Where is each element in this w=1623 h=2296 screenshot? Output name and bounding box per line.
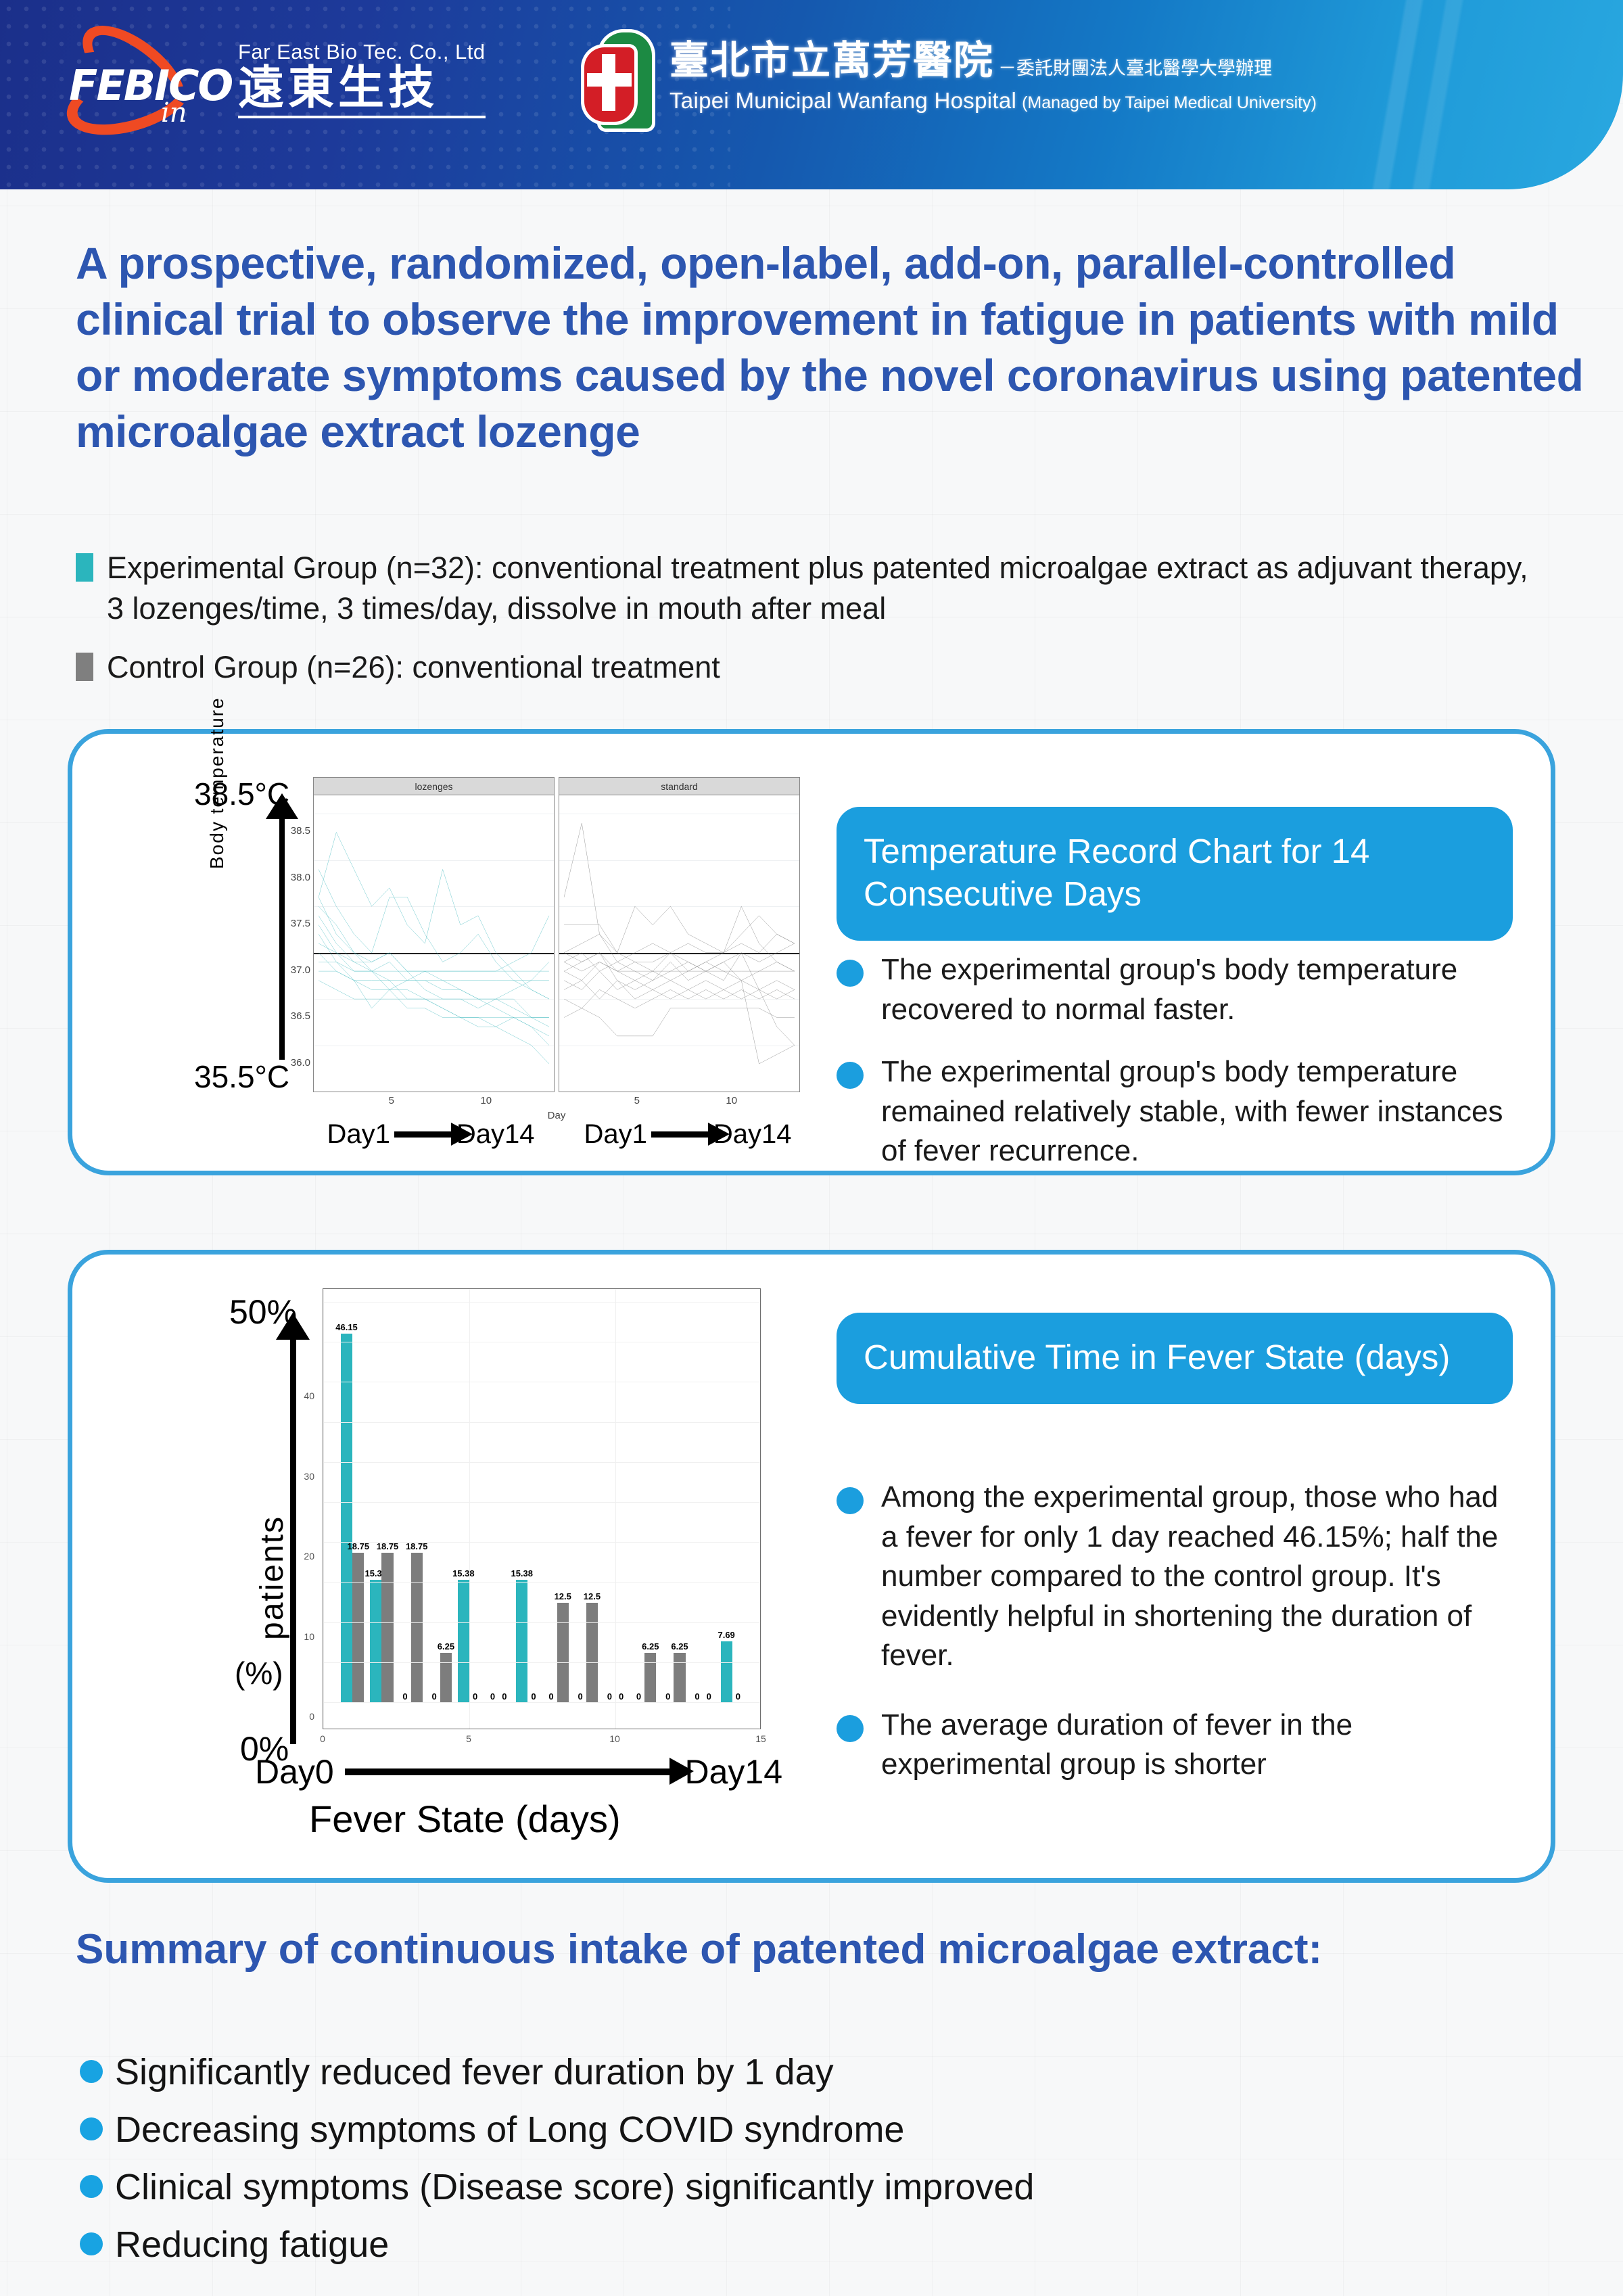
facet-label-standard: standard — [559, 778, 799, 795]
fever-bar-value-label: 0 — [736, 1691, 740, 1703]
fever-bar-value-label: 0 — [636, 1691, 641, 1703]
hospital-cross-icon — [582, 28, 663, 130]
fever-bar-value-label: 7.69 — [718, 1630, 734, 1641]
summary-item: Significantly reduced fever duration by … — [80, 2049, 1588, 2096]
temperature-facet-plot: lozenges standard — [313, 777, 800, 1092]
gridline — [761, 1289, 762, 1729]
gridline — [323, 1702, 760, 1703]
day-range-lozenges: Day1 Day14 — [302, 1119, 559, 1150]
right-arrow-icon — [345, 1768, 672, 1775]
day-start-label-lozenges: Day1 — [327, 1119, 390, 1150]
temperature-panel: 38.5°C 35.5°C Body temperature 36.036.53… — [68, 729, 1555, 1175]
gridline — [323, 1382, 760, 1382]
fever-x-axis-title: Fever State (days) — [309, 1797, 621, 1841]
poster-header: FEBICO in Far East Bio Tec. Co., Ltd 遠東生… — [0, 0, 1623, 189]
temperature-bullet-list: The experimental group's body temperatur… — [837, 950, 1526, 1194]
fever-bar-value-label: 12.5 — [584, 1591, 601, 1603]
fever-x-tick: 15 — [755, 1733, 766, 1744]
fever-bar-value-label: 6.25 — [642, 1641, 659, 1653]
bullet-dot-icon — [837, 1715, 864, 1742]
experimental-group-swatch-icon — [76, 553, 93, 582]
temp-y-tick: 36.5 — [291, 1010, 310, 1022]
gridline — [323, 1289, 324, 1729]
fever-bar-value-label: 6.25 — [671, 1641, 688, 1653]
fever-bar: 15.38 — [458, 1580, 469, 1703]
facet-standard: standard — [559, 777, 800, 1092]
fever-y-tick-labels: 010203040 — [286, 1288, 319, 1729]
temp-y-axis-title: Body temperature — [206, 697, 228, 869]
fever-bar: 6.25 — [440, 1653, 452, 1703]
fever-bar: 18.75 — [352, 1553, 364, 1703]
fever-bar: 6.25 — [644, 1653, 656, 1703]
right-arrow-icon — [651, 1131, 709, 1138]
experimental-group-label: Experimental Group (n=32): conventional … — [107, 548, 1540, 630]
gridline — [323, 1422, 760, 1423]
right-arrow-icon — [394, 1131, 452, 1138]
temp-x-tick: 10 — [480, 1095, 492, 1106]
facet-plot-area-standard — [559, 795, 799, 1092]
bullet-dot-icon — [837, 960, 864, 987]
bullet-text: The experimental group's body temperatur… — [881, 950, 1526, 1029]
bullet-text: The experimental group's body temperatur… — [881, 1052, 1526, 1171]
study-groups-legend: Experimental Group (n=32): conventional … — [76, 548, 1563, 705]
fever-x-tick: 5 — [466, 1733, 471, 1744]
fever-y-tick: 10 — [304, 1631, 314, 1642]
bullet-item: Among the experimental group, those who … — [837, 1478, 1520, 1676]
fever-bar-value-label: 15.38 — [511, 1568, 533, 1580]
fever-bar: 18.75 — [381, 1553, 393, 1703]
fever-bar-value-label: 18.75 — [377, 1541, 399, 1553]
gridline — [323, 1342, 760, 1342]
fever-bar-value-label: 0 — [490, 1691, 495, 1703]
fever-bars-container: 46.1518.7515.3818.75018.7506.2515.380001… — [323, 1304, 760, 1703]
fever-bar-value-label: 18.75 — [348, 1541, 370, 1553]
fever-bar: 15.38 — [516, 1580, 527, 1703]
fever-y-tick: 0 — [309, 1711, 314, 1722]
fever-bar-value-label: 46.15 — [335, 1322, 358, 1334]
temperature-lines — [559, 795, 799, 1092]
facet-plot-area-lozenges — [314, 795, 554, 1092]
summary-heading: Summary of continuous intake of patented… — [76, 1924, 1584, 1975]
temp-y-tick: 38.0 — [291, 872, 310, 883]
gridline — [323, 1582, 760, 1583]
fever-bar-value-label: 18.75 — [406, 1541, 428, 1553]
bullet-dot-icon — [80, 2117, 103, 2140]
fever-bar-value-label: 0 — [619, 1691, 624, 1703]
fever-day-start-label: Day0 — [255, 1752, 334, 1791]
summary-item: Reducing fatigue — [80, 2222, 1588, 2268]
bullet-dot-icon — [80, 2175, 103, 2198]
fever-bar: 12.5 — [586, 1603, 598, 1703]
poster-page: FEBICO in Far East Bio Tec. Co., Ltd 遠東生… — [0, 0, 1623, 2296]
temp-y-tick: 37.0 — [291, 964, 310, 976]
temp-day-range-annotations: Day1 Day14 Day1 Day14 — [302, 1119, 816, 1150]
febico-chinese-name: 遠東生技 — [238, 64, 486, 118]
gridline — [469, 1289, 470, 1729]
temp-x-tick: 5 — [389, 1095, 394, 1106]
gridline — [323, 1462, 760, 1463]
fever-bar-value-label: 15.38 — [452, 1568, 475, 1580]
summary-list: Significantly reduced fever duration by … — [80, 2049, 1588, 2279]
fever-x-tick-labels: 051015 — [323, 1733, 761, 1748]
summary-item-text: Significantly reduced fever duration by … — [115, 2049, 834, 2096]
gridline — [323, 1542, 760, 1543]
fever-bar-chart: 50% 0% (%) patients 010203040 46.1518.75… — [154, 1275, 830, 1856]
fever-bar-value-label: 0 — [548, 1691, 553, 1703]
bullet-text: The average duration of fever in the exp… — [881, 1706, 1520, 1785]
bullet-text: Among the experimental group, those who … — [881, 1478, 1520, 1676]
summary-item-text: Reducing fatigue — [115, 2222, 389, 2268]
fever-bar: 46.15 — [341, 1334, 352, 1703]
temp-y-tick: 38.5 — [291, 825, 310, 837]
temperature-chart: 38.5°C 35.5°C Body temperature 36.036.53… — [181, 768, 843, 1146]
fever-y-axis-title: patients — [254, 1516, 291, 1640]
febico-wordmark: FEBICO — [69, 61, 232, 110]
bullet-dot-icon — [837, 1487, 864, 1514]
control-group-label: Control Group (n=26): conventional treat… — [107, 647, 720, 688]
fever-bullet-list: Among the experimental group, those who … — [837, 1478, 1520, 1808]
gridline — [323, 1622, 760, 1623]
hospital-english-name: Taipei Municipal Wanfang Hospital — [669, 88, 1016, 114]
day-range-standard: Day1 Day14 — [559, 1119, 816, 1150]
hospital-logo: 臺北市立萬芳醫院 －委託財團法人臺北醫學大學辦理 Taipei Municipa… — [582, 28, 1317, 130]
fever-bar-value-label: 0 — [695, 1691, 699, 1703]
febico-swoosh-icon: FEBICO in — [53, 35, 222, 123]
fever-bar-value-label: 0 — [473, 1691, 477, 1703]
fever-bar-value-label: 12.5 — [555, 1591, 571, 1603]
fever-callout-title: Cumulative Time in Fever State (days) — [837, 1313, 1513, 1404]
fever-y-tick: 40 — [304, 1390, 314, 1401]
temp-y-tick-labels: 36.036.537.037.538.038.5 — [283, 795, 312, 1085]
temp-y-tick: 36.0 — [291, 1057, 310, 1069]
fever-axis-unit-label: (%) — [235, 1655, 283, 1691]
fever-bar: 12.5 — [557, 1603, 569, 1703]
fever-state-panel: 50% 0% (%) patients 010203040 46.1518.75… — [68, 1250, 1555, 1883]
bullet-item: The experimental group's body temperatur… — [837, 1052, 1526, 1171]
page-title: A prospective, randomized, open-label, a… — [76, 235, 1584, 461]
temperature-lines — [314, 795, 554, 1092]
bullet-item: The experimental group's body temperatur… — [837, 950, 1526, 1029]
day-start-label-standard: Day1 — [584, 1119, 646, 1150]
summary-item: Clinical symptoms (Disease score) signif… — [80, 2164, 1588, 2211]
fever-bar: 7.69 — [721, 1641, 732, 1703]
hospital-chinese-name: 臺北市立萬芳醫院 — [669, 28, 994, 85]
temp-x-tick-labels: 510510 — [313, 1095, 800, 1111]
febico-logo: FEBICO in Far East Bio Tec. Co., Ltd 遠東生… — [53, 35, 486, 123]
fever-bar-value-label: 6.25 — [438, 1641, 454, 1653]
fever-y-tick: 30 — [304, 1471, 314, 1482]
fever-bar: 6.25 — [674, 1653, 685, 1703]
gridline — [323, 1502, 760, 1503]
hospital-english-subtitle: (Managed by Taipei Medical University) — [1022, 93, 1317, 113]
hospital-chinese-subtitle: －委託財團法人臺北醫學大學辦理 — [998, 53, 1272, 85]
fever-bar-value-label: 0 — [402, 1691, 407, 1703]
bullet-dot-icon — [837, 1062, 864, 1089]
facet-label-lozenges: lozenges — [314, 778, 554, 795]
temp-x-tick: 5 — [634, 1095, 640, 1106]
fever-y-tick: 20 — [304, 1551, 314, 1562]
summary-item: Decreasing symptoms of Long COVID syndro… — [80, 2107, 1588, 2153]
temp-y-tick: 37.5 — [291, 918, 310, 929]
temperature-callout-title: Temperature Record Chart for 14 Consecut… — [837, 807, 1513, 941]
gridline — [615, 1289, 616, 1729]
fever-bar-value-label: 0 — [665, 1691, 670, 1703]
summary-item-text: Clinical symptoms (Disease score) signif… — [115, 2164, 1034, 2211]
fever-bar-value-label: 0 — [502, 1691, 507, 1703]
fever-bar-value-label: 0 — [432, 1691, 437, 1703]
fever-bar-value-label: 0 — [578, 1691, 583, 1703]
bullet-dot-icon — [80, 2060, 103, 2083]
control-group-swatch-icon — [76, 653, 93, 681]
fever-x-tick: 10 — [609, 1733, 620, 1744]
fever-plot-area: 46.1518.7515.3818.75018.7506.2515.380001… — [323, 1288, 761, 1729]
febico-english-name: Far East Bio Tec. Co., Ltd — [238, 40, 486, 64]
bullet-dot-icon — [80, 2232, 103, 2255]
fever-bar: 15.38 — [370, 1580, 381, 1703]
legend-item-control: Control Group (n=26): conventional treat… — [76, 647, 1563, 688]
legend-item-experimental: Experimental Group (n=32): conventional … — [76, 548, 1563, 630]
gridline — [323, 1662, 760, 1663]
temp-axis-min-label: 35.5°C — [194, 1058, 289, 1095]
fever-bar-value-label: 0 — [607, 1691, 612, 1703]
temp-x-tick: 10 — [726, 1095, 737, 1106]
fever-day-end-label: Day14 — [684, 1752, 782, 1791]
fever-x-tick: 0 — [320, 1733, 325, 1744]
febico-in-mark: in — [161, 97, 187, 128]
gridline — [323, 1302, 760, 1303]
summary-item-text: Decreasing symptoms of Long COVID syndro… — [115, 2107, 904, 2153]
fever-bar-value-label: 0 — [531, 1691, 536, 1703]
fever-bar: 18.75 — [411, 1553, 423, 1703]
bullet-item: The average duration of fever in the exp… — [837, 1706, 1520, 1785]
fever-day-range-annotation: Day0 Day14 — [255, 1752, 782, 1791]
facet-lozenges: lozenges — [313, 777, 555, 1092]
fever-bar-value-label: 0 — [707, 1691, 711, 1703]
